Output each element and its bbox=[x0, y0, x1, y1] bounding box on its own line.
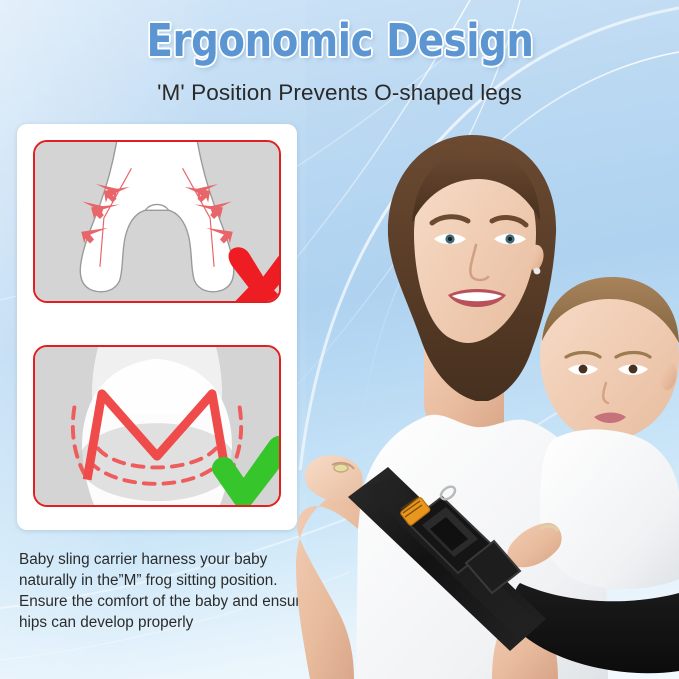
mother-carrying-baby-in-sling-photo bbox=[296, 105, 679, 679]
page-title-wrap: Ergonomic Design bbox=[0, 18, 679, 63]
photo-illustration bbox=[296, 105, 679, 679]
baby-white-top bbox=[540, 429, 679, 589]
promo-graphic: Ergonomic Design 'M' Position Prevents O… bbox=[0, 0, 679, 679]
page-subtitle: 'M' Position Prevents O-shaped legs bbox=[0, 80, 679, 106]
page-title: Ergonomic Design bbox=[146, 18, 533, 63]
ring bbox=[334, 464, 348, 472]
baby-legs-o-shape-illustration bbox=[35, 142, 279, 301]
product-caption: Baby sling carrier harness your baby nat… bbox=[19, 549, 319, 633]
baby-legs-m-position-illustration bbox=[35, 347, 279, 505]
earring bbox=[534, 268, 541, 275]
baby-seated-shape bbox=[78, 347, 235, 505]
o-shaped-legs-panel bbox=[33, 140, 281, 303]
left-arm bbox=[296, 494, 360, 679]
illustration-card bbox=[17, 124, 297, 530]
m-position-panel bbox=[33, 345, 281, 507]
